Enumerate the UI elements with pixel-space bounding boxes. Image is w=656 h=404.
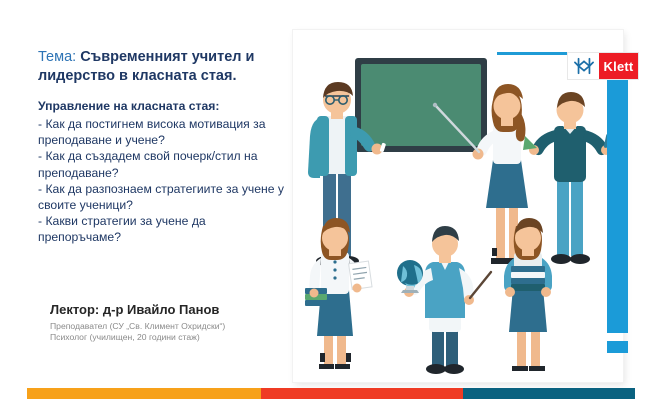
section-heading: Управление на класната стая:	[38, 99, 288, 115]
blue-vertical-bar	[607, 78, 628, 333]
list-item: - Как да създадем свой почерк/стил на пр…	[38, 148, 288, 180]
topic-label: Тема:	[38, 49, 76, 65]
teachers-illustration	[293, 30, 623, 382]
klett-symbol-icon	[573, 56, 595, 76]
illustration-panel	[293, 30, 623, 382]
topic-line: Тема: Съвременният учител и лидерство в …	[38, 48, 288, 85]
lecturer-affiliation: Преподавател (СУ „Св. Климент Охридски“)	[50, 321, 300, 333]
klett-logo: Klett	[568, 53, 638, 79]
slide-text-column: Тема: Съвременният учител и лидерство в …	[38, 48, 288, 246]
blue-accent-rule	[497, 52, 574, 55]
klett-k-mark-icon	[568, 53, 599, 79]
blue-accent-tab	[607, 341, 628, 353]
figure-male-globe-pointer	[397, 226, 491, 374]
bar-segment-teal	[463, 388, 635, 399]
figure-female-books-papers	[305, 218, 372, 369]
presentation-slide: Тема: Съвременният учител и лидерство в …	[0, 0, 656, 404]
lecturer-name: Лектор: д-р Ивайло Панов	[50, 302, 300, 319]
list-item: - Какви стратегии за учене да препоръчам…	[38, 213, 288, 245]
lecturer-block: Лектор: д-р Ивайло Панов Преподавател (С…	[50, 302, 300, 344]
klett-wordmark: Klett	[599, 53, 638, 79]
bar-segment-red	[261, 388, 463, 399]
list-item: - Как да разпознаем стратегиите за учене…	[38, 181, 288, 213]
list-item: - Как да постигнем висока мотивация за п…	[38, 116, 288, 148]
bar-segment-orange	[27, 388, 261, 399]
bottom-color-bar	[27, 388, 635, 399]
lecturer-role: Психолог (училищен, 20 години стаж)	[50, 332, 300, 344]
question-list: - Как да постигнем висока мотивация за п…	[38, 116, 288, 246]
